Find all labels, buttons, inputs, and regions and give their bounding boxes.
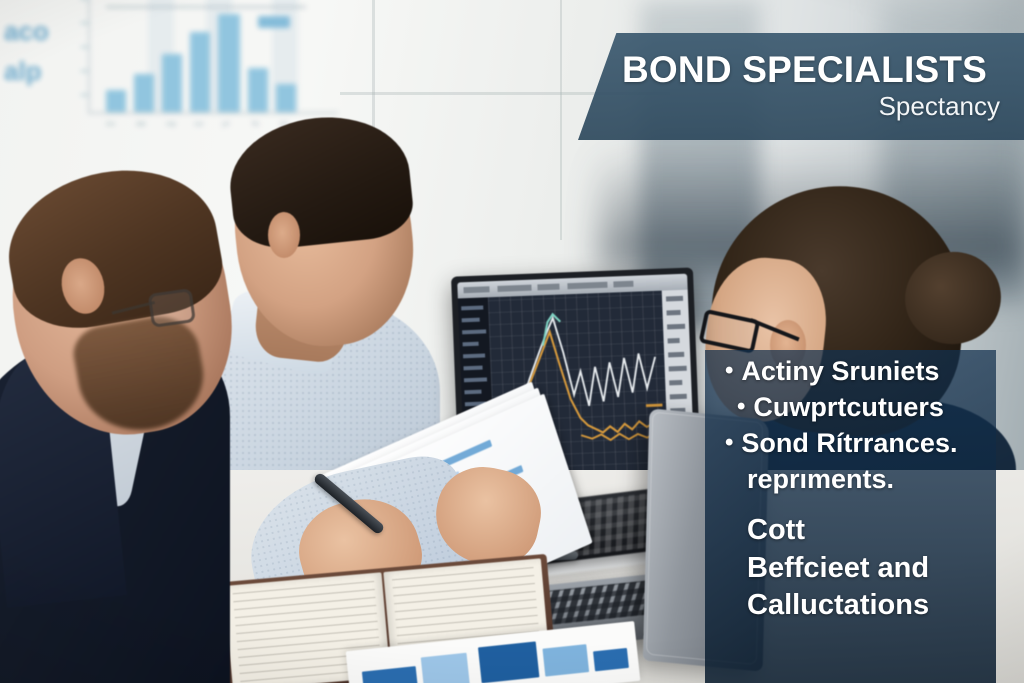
bullet-item: • Sond Rítrrances. <box>725 426 1024 462</box>
tagline-line-1: Cott <box>747 512 929 550</box>
man-center-ear <box>268 212 300 258</box>
tagline-line-3: Calluctations <box>747 587 929 625</box>
bullet-label: Actiny Sruniets <box>741 354 939 390</box>
bullet-marker: • <box>725 354 733 389</box>
bullet-marker: • <box>737 390 745 425</box>
chart-side-label: aco <box>4 16 49 47</box>
header-banner: BOND SPECIALISTS Spectancy <box>578 33 1024 140</box>
bullet-label: Cuwprtcutuers <box>753 390 944 426</box>
bullet-marker: • <box>725 426 733 461</box>
chart-side-label: alp <box>4 56 42 87</box>
banner-title: BOND SPECIALISTS <box>622 51 1002 89</box>
info-panel: • Actiny Sruniets • Cuwprtcutuers • Sond… <box>705 350 996 683</box>
chart-x-axis <box>88 112 338 114</box>
chart-y-axis <box>88 0 90 114</box>
banner-subtitle: Spectancy <box>622 92 1002 122</box>
eyeglass-lens <box>148 288 196 328</box>
bullet-list: • Actiny Sruniets • Cuwprtcutuers • Sond… <box>725 354 1024 498</box>
tagline-block: Cott Beffcieet and Calluctations <box>747 512 929 625</box>
tagline-line-2: Beffcieet and <box>747 550 929 588</box>
bullet-item: • Actiny Sruniets <box>725 354 1024 390</box>
marketing-slide: aco alp iondat repcor yrlfin tot <box>0 0 1024 683</box>
wall-seam <box>560 0 562 240</box>
bullet-label: Sond Rítrrances. <box>741 426 957 462</box>
bullet-continuation: reprıments. <box>725 462 1024 498</box>
bullet-item: • Cuwprtcutuers <box>725 390 1024 426</box>
